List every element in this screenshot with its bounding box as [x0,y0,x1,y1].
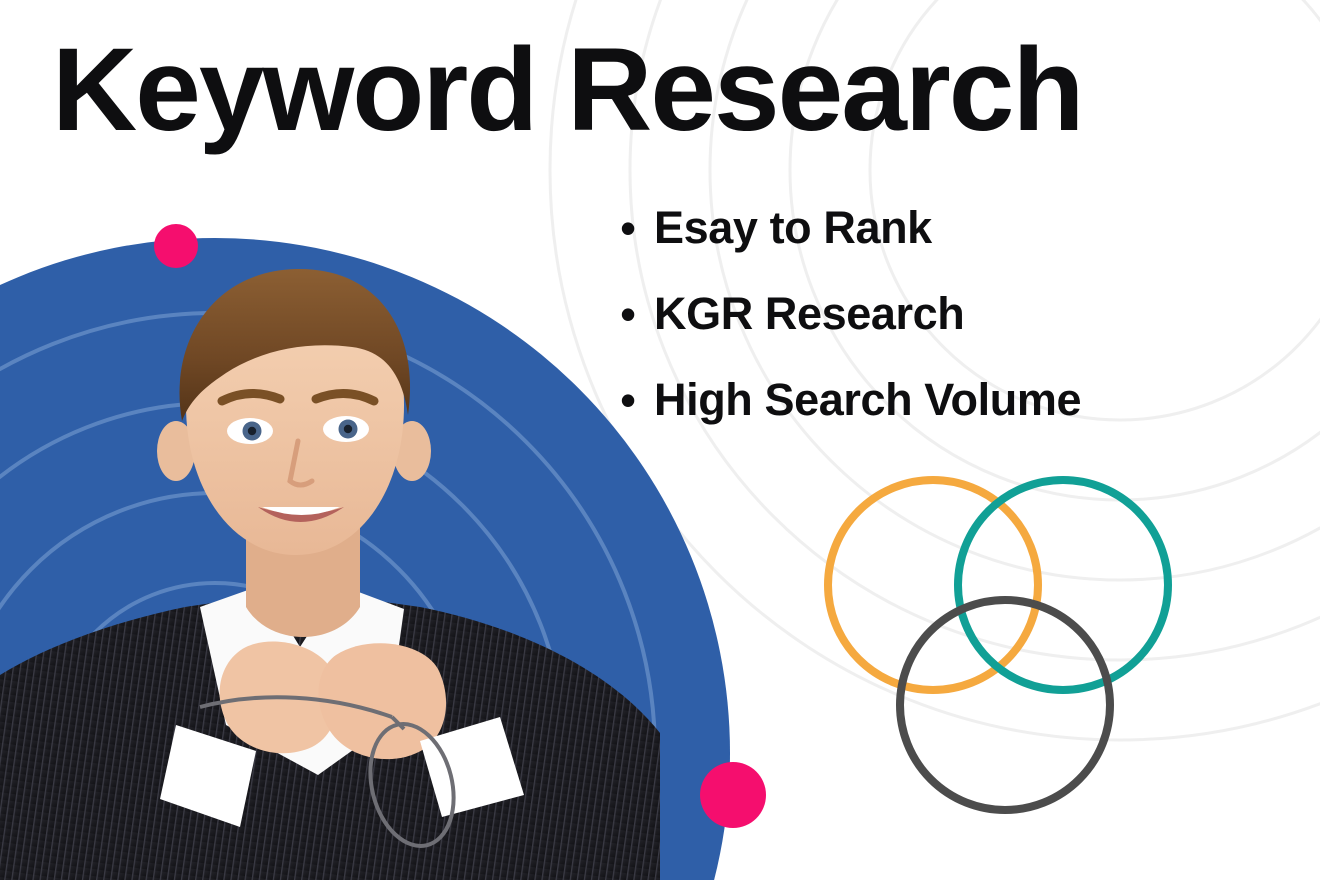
venn-circle-orange [828,480,1038,690]
venn-diagram [820,455,1220,845]
page-title: Keyword Research [52,30,1292,150]
list-item-label: Esay to Rank [654,202,932,254]
pink-accent-dot-bottom [700,762,766,828]
list-item-label: KGR Research [654,288,964,340]
portrait-photo [0,255,660,880]
bullet-icon: • [620,205,654,251]
venn-circle-gray [900,600,1110,810]
list-item: • KGR Research [620,271,1081,357]
list-item-label: High Search Volume [654,374,1081,426]
feature-list: • Esay to Rank • KGR Research • High Sea… [620,185,1081,443]
bullet-icon: • [620,377,654,423]
pink-accent-dot-top [154,224,198,268]
list-item: • Esay to Rank [620,185,1081,271]
banner-canvas: Keyword Research • Esay to Rank • KGR Re… [0,0,1320,880]
portrait-illustration [0,255,660,880]
pupil-right [344,425,352,433]
bullet-icon: • [620,291,654,337]
list-item: • High Search Volume [620,357,1081,443]
venn-circle-teal [958,480,1168,690]
pupil-left [248,427,256,435]
